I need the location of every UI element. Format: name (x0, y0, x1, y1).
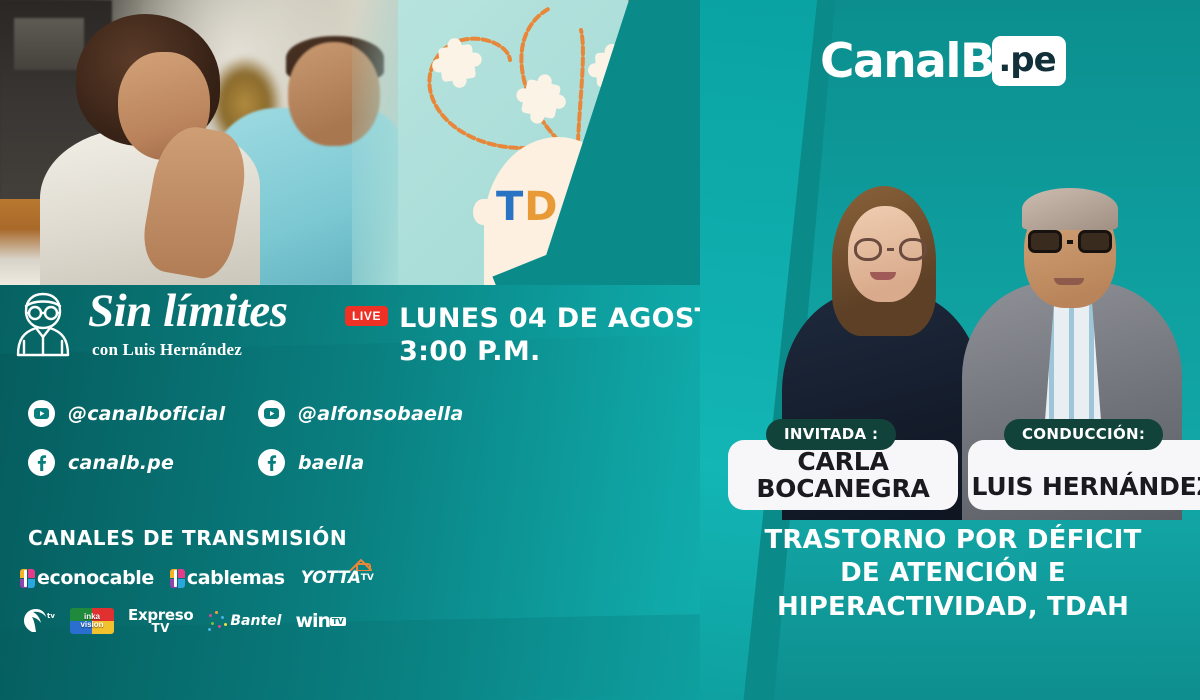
tdah-letter-d: D (524, 187, 558, 227)
channels-heading: CANALES DE TRANSMISIÓN (28, 526, 347, 550)
guest-name: CARLA BOCANEGRA (756, 449, 929, 502)
role-label-host: CONDUCCIÓN: (1004, 419, 1163, 450)
logo-label: win (295, 610, 330, 632)
show-title-block: Sin límites con Luis Hernández (12, 288, 288, 360)
youtube-icon (28, 400, 55, 427)
live-badge: LIVE (345, 306, 388, 326)
logo-tv-suffix: TV (330, 617, 346, 626)
host-name: LUIS HERNÁNDEZ (972, 474, 1200, 501)
social-link-facebook-baella[interactable]: baella (258, 449, 488, 476)
role-label-guest: INVITADA : (766, 419, 896, 450)
guest-name-line-2: BOCANEGRA (756, 476, 929, 503)
channel-logos-row-2: tv inka vision Expreso TV (22, 608, 346, 634)
antenna-icon (350, 559, 372, 571)
promo-graphic: TDAH (0, 0, 1200, 700)
social-link-facebook-canalbpe[interactable]: canalb.pe (28, 449, 258, 476)
social-handle: @alfonsobaella (298, 403, 464, 425)
logo-econocable: econocable (20, 567, 154, 589)
logo-label: cablemas (187, 567, 285, 589)
logo-tv-palm: tv (22, 609, 56, 634)
puzzle-piece (521, 79, 561, 119)
puzzle-piece (438, 44, 476, 82)
host-name-card: CONDUCCIÓN: LUIS HERNÁNDEZ (968, 440, 1200, 510)
topic-line-2: DE ATENCIÓN E (720, 557, 1186, 590)
sunglasses-icon (1028, 230, 1112, 253)
topic-line-1: TRASTORNO POR DÉFICIT (720, 524, 1186, 557)
show-title: Sin límites (88, 288, 288, 335)
topic-title: TRASTORNO POR DÉFICIT DE ATENCIÓN E HIPE… (720, 524, 1186, 624)
guest-name-line-1: CARLA (756, 449, 929, 476)
logo-label: econocable (37, 567, 154, 589)
social-handle: canalb.pe (68, 452, 174, 474)
person-hair (1022, 188, 1118, 230)
logo-bantel: Bantel (207, 610, 281, 632)
brand-mark-icon (20, 569, 35, 588)
palm-tv-icon: tv (22, 609, 56, 634)
logo-label: YOTTA (301, 568, 361, 588)
eyeglasses-icon (854, 238, 927, 261)
facebook-icon (258, 449, 285, 476)
hero-photo-family (0, 0, 408, 285)
person-with-glasses-icon (12, 289, 74, 359)
logo-expreso-tv: Expreso TV (128, 608, 193, 634)
facebook-icon (28, 449, 55, 476)
schedule-block: LIVE LUNES 04 DE AGOSTO 3:00 P.M. (345, 303, 737, 369)
show-host-line: con Luis Hernández (92, 340, 288, 360)
logo-cablemas: cablemas (170, 567, 285, 589)
left-panel: TDAH (0, 0, 760, 700)
guest-name-card: INVITADA : CARLA BOCANEGRA (728, 440, 958, 510)
logo-line-2: TV (151, 622, 169, 634)
logo-yotta-tv: YOTTATV (301, 568, 374, 588)
hero-media-strip: TDAH (0, 0, 760, 285)
host-name-line-1: LUIS HERNÁNDEZ (972, 474, 1200, 501)
logo-inka-vision: inka vision (70, 608, 114, 634)
social-handle: @canalboficial (68, 403, 225, 425)
logo-line-2: vision (80, 621, 103, 629)
logo-line-1: Expreso (128, 608, 193, 622)
brand-mark-icon (170, 569, 185, 588)
logo-label: Bantel (230, 613, 281, 629)
social-links: @canalboficial @alfonsobaella canalb.pe … (28, 400, 528, 476)
name-badges: INVITADA : CARLA BOCANEGRA CONDUCCIÓN: L… (700, 418, 1200, 510)
right-panel: CanalB .pe (700, 0, 1200, 700)
canalb-tld-badge: .pe (992, 36, 1065, 86)
canalb-wordmark: CanalB (820, 38, 994, 85)
svg-text:tv: tv (47, 612, 55, 620)
channel-logos-row-1: econocable cablemas YOTTATV (20, 567, 374, 589)
canalb-logo[interactable]: CanalB .pe (820, 36, 1066, 86)
social-handle: baella (298, 452, 364, 474)
topic-line-3: HIPERACTIVIDAD, TDAH (720, 591, 1186, 624)
youtube-icon (258, 400, 285, 427)
broadcast-date: LUNES 04 DE AGOSTO (399, 303, 737, 336)
broadcast-time: 3:00 P.M. (399, 336, 737, 369)
logo-tv-suffix: TV (361, 573, 374, 583)
logo-win-tv: winTV (295, 610, 345, 632)
social-link-youtube-alfonsobaella[interactable]: @alfonsobaella (258, 400, 488, 427)
social-link-youtube-canalboficial[interactable]: @canalboficial (28, 400, 258, 427)
dots-icon (207, 610, 229, 632)
tdah-letter-t: T (496, 187, 524, 227)
